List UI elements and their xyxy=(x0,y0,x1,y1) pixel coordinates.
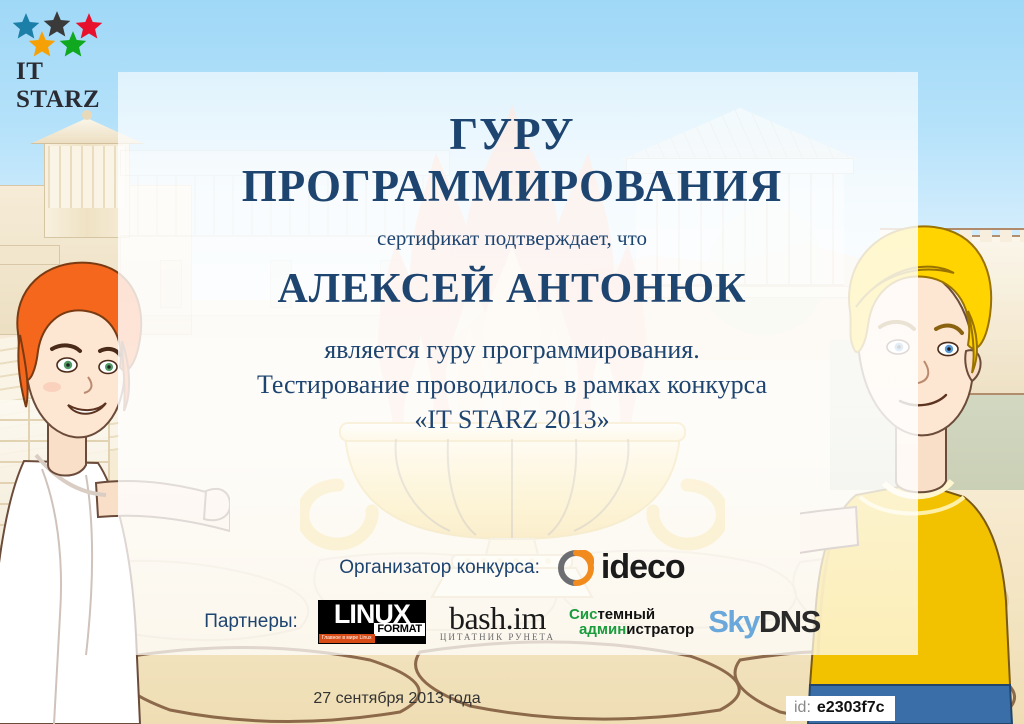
certificate-date-text: 27 сентября 2013 года xyxy=(313,690,480,707)
skydns-dns: DNS xyxy=(759,604,820,639)
logo-stars xyxy=(10,8,110,56)
partner-skydns-logo: SkyDNS xyxy=(708,604,820,640)
partners-row: Партнеры: LINUX FORMAT Главное в мире Li… xyxy=(0,600,1024,644)
star-orange-icon xyxy=(28,30,56,58)
certificate-title-line1: ГУРУ xyxy=(0,108,1024,160)
ideco-ring-icon xyxy=(558,550,594,586)
certificate-content: ГУРУ ПРОГРАММИРОВАНИЯ сертификат подтвер… xyxy=(0,0,1024,724)
skydns-sky: Sky xyxy=(708,604,759,639)
certificate-id-key: id: xyxy=(794,699,811,717)
organizer-row: Организатор конкурса: ideco xyxy=(0,548,1024,587)
star-green-icon xyxy=(59,30,87,58)
linux-format-sub: FORMAT xyxy=(374,623,424,636)
partners-label: Партнеры: xyxy=(204,611,298,633)
certificate-id-value: e2303f7c xyxy=(817,699,885,717)
sysadmin-line2-black: истратор xyxy=(626,621,694,638)
certificate-subtitle: сертификат подтверждает, что xyxy=(0,226,1024,251)
ideco-wordmark: ideco xyxy=(601,548,685,587)
ideco-logo: ideco xyxy=(558,548,685,587)
bash-im-sub: ЦИТАТНИК РУНЕТА xyxy=(440,632,555,642)
body-line-2: Тестирование проводилось в рамках конкур… xyxy=(0,370,1024,400)
partner-linux-format-logo: LINUX FORMAT Главное в мире Linux xyxy=(318,600,426,644)
sysadmin-line2-green: админ xyxy=(579,621,626,638)
certificate-title-line2: ПРОГРАММИРОВАНИЯ xyxy=(0,160,1024,212)
logo-wordmark: IT STARZ xyxy=(16,58,120,114)
partner-sysadmin-logo: Системный администратор xyxy=(569,607,694,637)
certificate-canvas: IT STARZ ГУРУ ПРОГРАММИРОВАНИЯ сертифика… xyxy=(0,0,1024,724)
certificate-id-badge: id: e2303f7c xyxy=(786,696,895,721)
it-starz-logo: IT STARZ xyxy=(10,8,120,96)
bash-im-main: bash.im xyxy=(449,603,546,633)
recipient-name: АЛЕКСЕЙ АНТОНЮК xyxy=(0,265,1024,313)
body-line-1: является гуру программирования. xyxy=(0,335,1024,365)
linux-format-tag: Главное в мире Linux xyxy=(319,634,375,643)
body-line-3: «IT STARZ 2013» xyxy=(0,405,1024,435)
organizer-label: Организатор конкурса: xyxy=(339,557,540,579)
partner-bash-im-logo: bash.im ЦИТАТНИК РУНЕТА xyxy=(440,603,555,642)
